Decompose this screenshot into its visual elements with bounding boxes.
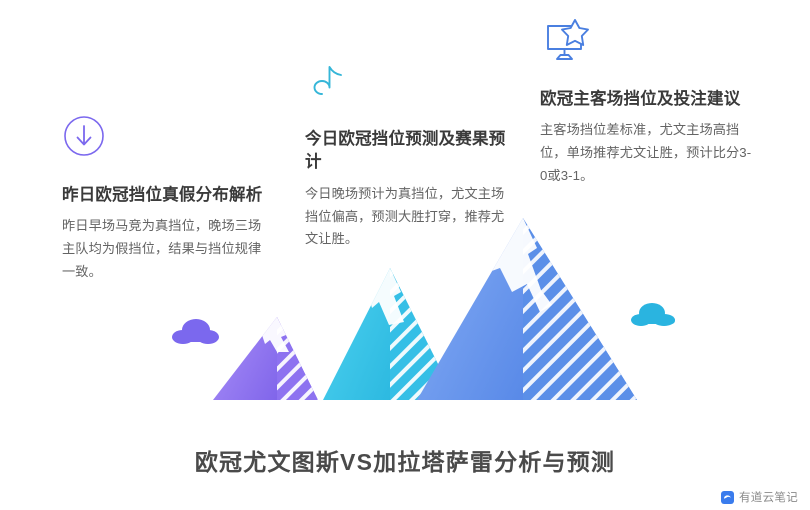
column-1-heading: 昨日欧冠挡位真假分布解析 (62, 184, 268, 207)
column-3-body: 主客场挡位差标准，尤文主场高挡位，单场推荐尤文让胜，预计比分3-0或3-1。 (540, 119, 752, 187)
page-title: 欧冠尤文图斯VS加拉塔萨雷分析与预测 (0, 443, 810, 477)
column-2-heading: 今日欧冠挡位预测及赛果预计 (305, 128, 510, 175)
cloud-purple (172, 319, 219, 344)
column-1-body: 昨日早场马竞为真挡位，晚场三场主队均为假挡位，结果与挡位规律一致。 (62, 215, 268, 283)
cloud-cyan (631, 303, 675, 326)
slide-canvas: 昨日欧冠挡位真假分布解析 昨日早场马竞为真挡位，晚场三场主队均为假挡位，结果与挡… (0, 0, 810, 510)
feature-column-1: 昨日欧冠挡位真假分布解析 昨日早场马竞为真挡位，晚场三场主队均为假挡位，结果与挡… (62, 114, 268, 284)
column-2-body: 今日晚场预计为真挡位，尤文主场挡位偏高，预测大胜打穿，推荐尤文让胜。 (305, 183, 510, 251)
music-note-icon (305, 58, 510, 114)
column-3-heading: 欧冠主客场挡位及投注建议 (540, 88, 752, 111)
download-circle-icon (62, 114, 268, 170)
watermark: 有道云笔记 (721, 489, 798, 505)
youdao-cloud-note-icon (721, 491, 734, 504)
mountain-purple (213, 317, 318, 400)
feature-column-3: 欧冠主客场挡位及投注建议 主客场挡位差标准，尤文主场高挡位，单场推荐尤文让胜，预… (540, 18, 752, 188)
monitor-star-icon (540, 18, 752, 74)
mountain-cyan (323, 268, 456, 400)
feature-column-2: 今日欧冠挡位预测及赛果预计 今日晚场预计为真挡位，尤文主场挡位偏高，预测大胜打穿… (305, 58, 510, 251)
watermark-label: 有道云笔记 (739, 489, 798, 505)
